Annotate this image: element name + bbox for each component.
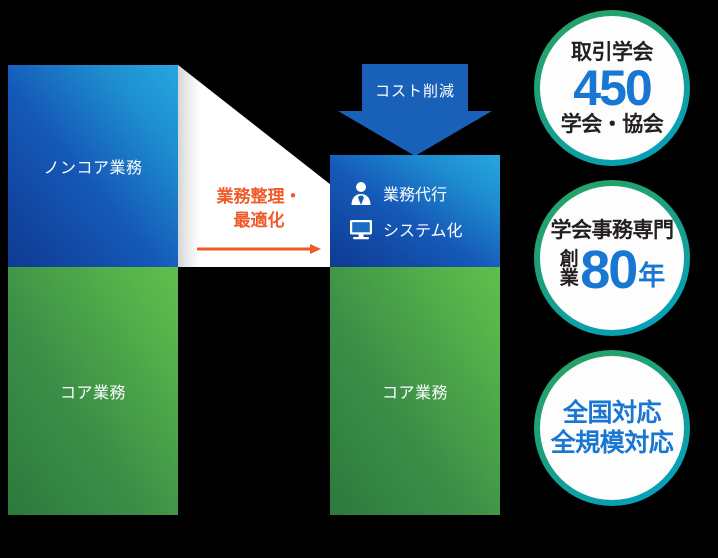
feature-item-systemization: システム化 — [348, 216, 463, 242]
feature-label-agency: 業務代行 — [383, 181, 447, 205]
right-core-block: コア業務 — [330, 267, 500, 515]
left-core-label: コア業務 — [60, 379, 126, 403]
transition-headline-line2: 最適化 — [234, 209, 285, 234]
badge-3-line1: 全国対応 — [563, 398, 661, 429]
feature-item-agency: 業務代行 — [348, 180, 463, 206]
desktop-monitor-icon — [348, 216, 374, 242]
badge-2-side-char1: 創 — [560, 251, 579, 269]
right-outsourcing-block: 業務代行 システム化 — [330, 155, 500, 267]
badge-years-in-business: 学会事務専門 創 業 80 年 — [534, 180, 690, 336]
transition-headline-line1: 業務整理・ — [217, 185, 302, 210]
badge-2-top-text: 学会事務専門 — [551, 220, 674, 241]
right-core-label: コア業務 — [382, 379, 448, 403]
badge-2-number: 80 — [580, 243, 636, 297]
badge-1-number: 450 — [573, 63, 650, 114]
left-noncore-label: ノンコア業務 — [43, 154, 142, 178]
feature-list: 業務代行 システム化 — [348, 175, 463, 247]
badge-nationwide-coverage: 全国対応 全規模対応 — [534, 350, 690, 506]
badge-2-side-char2: 業 — [560, 270, 579, 288]
badge-3-inner: 全国対応 全規模対応 — [540, 356, 684, 500]
badge-1-bottom-text: 学会・協会 — [561, 114, 664, 135]
feature-label-systemization: システム化 — [383, 217, 463, 241]
badge-2-side-label: 創 業 — [560, 251, 579, 287]
badge-2-inner: 学会事務専門 創 業 80 年 — [540, 186, 684, 330]
transition-content: 業務整理・ 最適化 — [178, 65, 330, 267]
person-in-suit-icon — [348, 180, 374, 206]
badge-3-line2: 全規模対応 — [551, 428, 674, 459]
badge-transaction-societies: 取引学会 450 学会・協会 — [534, 10, 690, 166]
left-noncore-block: ノンコア業務 — [8, 65, 178, 267]
right-arrow-icon — [197, 243, 321, 255]
badge-2-number-row: 創 業 80 年 — [560, 243, 665, 297]
down-arrow-icon — [338, 64, 492, 156]
badge-2-unit: 年 — [638, 254, 664, 297]
left-core-block: コア業務 — [8, 267, 178, 515]
diagram-canvas: ノンコア業務 コア業務 業務整理・ 最適化 コスト削減 業務代 — [0, 0, 718, 558]
cost-reduction-label: コスト削減 — [338, 80, 492, 101]
badge-1-inner: 取引学会 450 学会・協会 — [540, 16, 684, 160]
